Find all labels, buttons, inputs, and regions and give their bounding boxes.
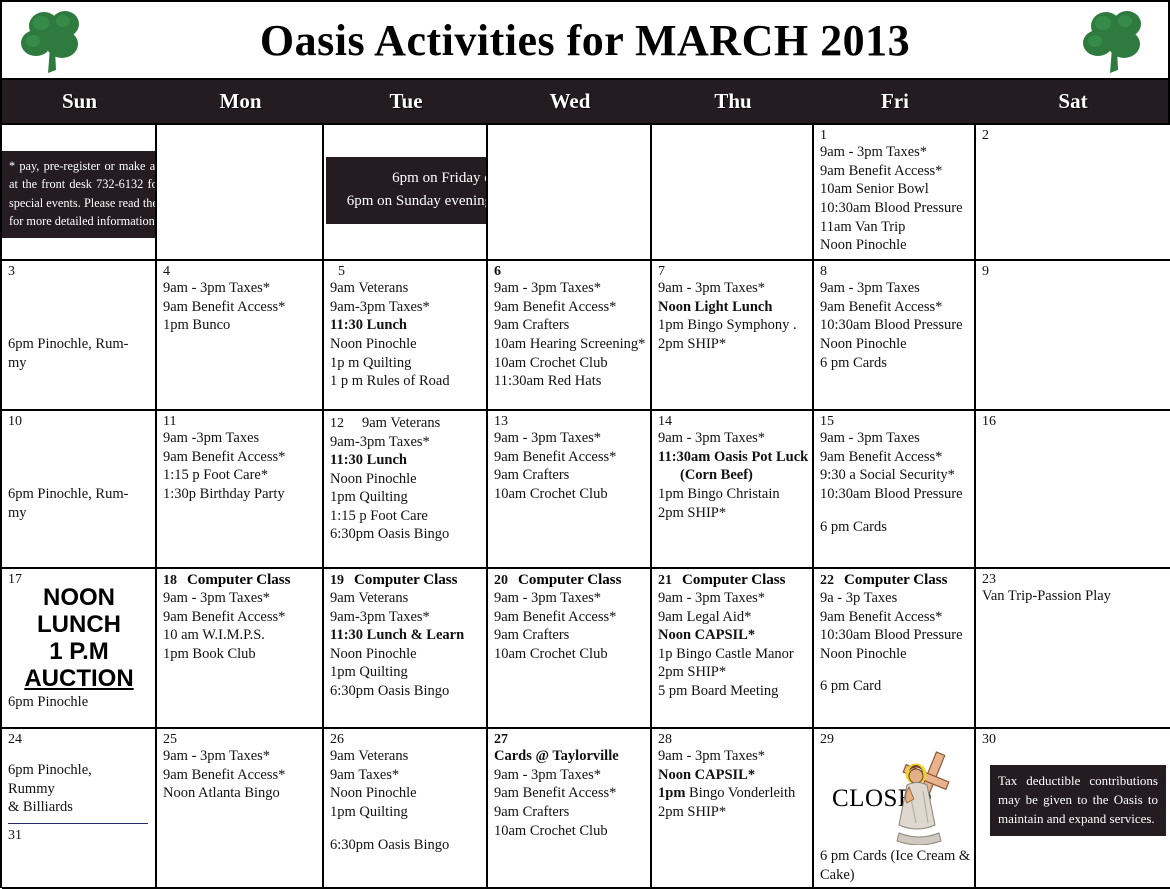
day-cell-28[interactable]: 289am - 3pm Taxes*Noon CAPSIL*1pm Bingo … <box>652 729 814 889</box>
event-line: 1pm Bingo Christain <box>658 485 807 504</box>
event-spacer <box>8 471 150 485</box>
event-line: 11:30 Lunch <box>330 451 481 470</box>
event-line: (Corn Beef) <box>658 466 807 485</box>
event-spacer <box>8 747 150 761</box>
event-line: 1 p m Rules of Road <box>330 372 481 391</box>
event-spacer <box>8 443 150 457</box>
event-line: Noon Light Lunch <box>658 298 807 317</box>
day-cell-20[interactable]: 20Computer Class 9am - 3pm Taxes*9am Ben… <box>488 569 652 729</box>
event-line: 9am -3pm Taxes <box>163 429 317 448</box>
event-line: 2pm SHIP* <box>658 663 807 682</box>
day-number: 17 <box>8 572 22 587</box>
event-line: 10:30am Blood Pressure <box>820 316 969 335</box>
event-line: 9am Crafters <box>494 466 645 485</box>
event-line: Noon Pinochle <box>820 236 969 255</box>
day-number: 18 <box>163 573 177 588</box>
day-number: 4 <box>163 264 170 279</box>
event-spacer <box>8 293 150 307</box>
event-line: Noon Atlanta Bingo <box>163 784 317 803</box>
event-line: 9am Benefit Access* <box>494 784 645 803</box>
day-cell-10[interactable]: 106pm Pinochle, Rum-my <box>2 411 157 569</box>
event-line: 9am - 3pm Taxes* <box>494 589 645 608</box>
event-line: my <box>8 354 150 373</box>
event-line: 1pm Bingo Vonderleith <box>658 784 807 803</box>
event-line: 1p Bingo Castle Manor <box>658 645 807 664</box>
day-cell-19[interactable]: 19Computer Class9am Veterans9am-3pm Taxe… <box>324 569 488 729</box>
event-spacer <box>8 279 150 293</box>
event-line: 1:15 p Foot Care* <box>163 466 317 485</box>
day-number: 3 <box>8 264 15 279</box>
day-cell-empty[interactable] <box>488 125 652 261</box>
day-number: 23 <box>982 572 996 587</box>
event-line: 9am Crafters <box>494 803 645 822</box>
event-line: 10am Crochet Club <box>494 354 645 373</box>
event-line: 10:30am Blood Pressure <box>820 626 969 645</box>
event-line: 9am Veterans <box>330 747 481 766</box>
event-line: 6pm Pinochle, Rum- <box>8 335 150 354</box>
event-line: 1:15 p Foot Care <box>330 507 481 526</box>
event-line: 9am - 3pm Taxes <box>820 429 969 448</box>
weekday-header-sun: Sun <box>2 80 157 123</box>
event-line: 6pm Pinochle <box>8 693 150 712</box>
event-line: Noon Pinochle <box>820 645 969 664</box>
auction-headline-line: 1 P.M <box>8 639 150 666</box>
day-cell-3[interactable]: 36pm Pinochle, Rum-my <box>2 261 157 411</box>
event-spacer <box>8 321 150 335</box>
event-line: 2pm SHIP* <box>658 803 807 822</box>
auction-headline: NOONLUNCH1 P.MAUCTION <box>8 585 150 693</box>
day-number: 19 <box>330 573 344 588</box>
event-line: 9am Benefit Access* <box>494 608 645 627</box>
event-line: 11:30am Red Hats <box>494 372 645 391</box>
event-line: 9am - 3pm Taxes* <box>163 747 317 766</box>
shamrock-icon <box>16 6 92 76</box>
event-spacer <box>820 504 969 518</box>
day-cell-29[interactable]: 29CLOSED6 pm Cards (Ice Cream &Cake) <box>814 729 976 889</box>
day-headline: Computer Class <box>354 572 457 589</box>
day-cell-22[interactable]: 22Computer Class9a - 3p Taxes9am Benefit… <box>814 569 976 729</box>
event-line: my <box>8 504 150 523</box>
day-cell-21[interactable]: 21Computer Class9am - 3pm Taxes*9am Lega… <box>652 569 814 729</box>
tax-note-box: Tax deductible contributions may be give… <box>990 765 1166 836</box>
day-number: 12 <box>330 416 344 431</box>
auction-headline-line: NOON <box>8 585 150 612</box>
event-line: Noon Pinochle <box>330 645 481 664</box>
day-cell-11[interactable]: 119am -3pm Taxes9am Benefit Access*1:15 … <box>157 411 324 569</box>
event-line: 9am Benefit Access* <box>494 298 645 317</box>
event-line: 9am Crafters <box>494 316 645 335</box>
event-line: & Billiards <box>8 798 150 817</box>
event-line: Noon Pinochle <box>330 784 481 803</box>
day-number: 29 <box>820 732 834 747</box>
event-line: 9am-3pm Taxes* <box>330 608 481 627</box>
event-line: 9am - 3pm Taxes* <box>658 589 807 608</box>
event-line: 9am Benefit Access* <box>163 448 317 467</box>
day-headline: Computer Class <box>187 572 290 589</box>
event-line: 9am Benefit Access* <box>820 162 969 181</box>
event-line: 9am Benefit Access* <box>494 448 645 467</box>
event-line: 6:30pm Oasis Bingo <box>330 525 481 544</box>
day-headline: Computer Class <box>518 572 621 589</box>
asterisk-note-box: * pay, pre-register or make an appointme… <box>2 151 157 238</box>
day-number: 8 <box>820 264 827 279</box>
day-cell-27[interactable]: 27Cards @ Taylorville9am - 3pm Taxes*9am… <box>488 729 652 889</box>
event-line: Noon CAPSIL* <box>658 626 807 645</box>
event-line: 9am - 3pm Taxes* <box>658 429 807 448</box>
event-line: 9am - 3pm Taxes* <box>163 279 317 298</box>
event-line: 10am Crochet Club <box>494 645 645 664</box>
event-line: Noon Pinochle <box>330 470 481 489</box>
day-cell-empty[interactable] <box>652 125 814 261</box>
event-line: 9am - 3pm Taxes* <box>494 429 645 448</box>
event-line: 10 am W.I.M.P.S. <box>163 626 317 645</box>
event-line: 9am Benefit Access* <box>820 608 969 627</box>
event-line: 1pm Bunco <box>163 316 317 335</box>
day-cell-empty[interactable]: * pay, pre-register or make an appointme… <box>2 125 157 261</box>
event-line: 1pm Bingo Symphony . <box>658 316 807 335</box>
event-line: 2pm SHIP* <box>658 335 807 354</box>
day-number: 6 <box>494 264 501 279</box>
event-line: 11:30 Lunch & Learn <box>330 626 481 645</box>
event-line: 10am Crochet Club <box>494 485 645 504</box>
day-cell-9[interactable]: 9 <box>976 261 1170 411</box>
event-line: 9am - 3pm Taxes* <box>658 279 807 298</box>
day-cell-24[interactable]: 246pm Pinochle,Rummy& Billiards31 <box>2 729 157 889</box>
day-number: 16 <box>982 414 996 429</box>
event-line: 1pm Quilting <box>330 488 481 507</box>
day-number: 25 <box>163 732 177 747</box>
weekday-header-fri: Fri <box>814 80 976 123</box>
event-line: 10:30am Blood Pressure <box>820 485 969 504</box>
event-line: Noon Pinochle <box>820 335 969 354</box>
page-title: Oasis Activities for MARCH 2013 <box>260 15 910 66</box>
weekday-header-mon: Mon <box>157 80 324 123</box>
event-line: 9am Crafters <box>494 626 645 645</box>
event-line: 1pm Book Club <box>163 645 317 664</box>
event-line: 10:30am Blood Pressure <box>820 199 969 218</box>
day-number: 20 <box>494 573 508 588</box>
event-line: 6 pm Cards (Ice Cream & <box>820 847 969 866</box>
event-line: 9am - 3pm Taxes <box>820 279 969 298</box>
event-line: 9am Benefit Access* <box>820 448 969 467</box>
event-line: 9am-3pm Taxes* <box>330 433 481 452</box>
day-number: 24 <box>8 732 22 747</box>
event-line: 1pm Quilting <box>330 663 481 682</box>
day-cell-5[interactable]: 59am Veterans9am-3pm Taxes*11:30 LunchNo… <box>324 261 488 411</box>
day-number: 7 <box>658 264 665 279</box>
day-number: 9 <box>982 264 989 279</box>
day-cell-12[interactable]: 129am Veterans9am-3pm Taxes*11:30 LunchN… <box>324 411 488 569</box>
event-line: 9am - 3pm Taxes* <box>494 279 645 298</box>
day-headline: 9am Veterans <box>354 414 440 433</box>
day-number: 10 <box>8 414 22 429</box>
day-cell-25[interactable]: 259am - 3pm Taxes*9am Benefit Access*Noo… <box>157 729 324 889</box>
event-line: Van Trip-Passion Play <box>982 587 1165 606</box>
event-line: 10am Senior Bowl <box>820 180 969 199</box>
event-spacer <box>8 429 150 443</box>
event-line: 9am Benefit Access* <box>163 608 317 627</box>
day-number: 26 <box>330 732 344 747</box>
event-line: 9am - 3pm Taxes* <box>163 589 317 608</box>
day-number-31: 31 <box>8 828 150 843</box>
day-cell-26[interactable]: 269am Veterans9am Taxes*Noon Pinochle1pm… <box>324 729 488 889</box>
event-line: 1pm Quilting <box>330 803 481 822</box>
day-number: 27 <box>494 732 508 747</box>
event-line: 6 pm Cards <box>820 518 969 537</box>
weekday-header-row: SunMonTueWedThuFriSat <box>2 80 1168 123</box>
shamrock-icon <box>1078 6 1154 76</box>
day-cell-18[interactable]: 18Computer Class9am - 3pm Taxes*9am Bene… <box>157 569 324 729</box>
event-line: 11:30 Lunch <box>330 316 481 335</box>
event-line: Noon CAPSIL* <box>658 766 807 785</box>
day-number: 15 <box>820 414 834 429</box>
event-line: 9am Veterans <box>330 589 481 608</box>
weekday-header-tue: Tue <box>324 80 488 123</box>
event-line: 9am Veterans <box>330 279 481 298</box>
jesus-carrying-cross-icon <box>883 749 959 845</box>
evening-note-line-2: 6pm on Sunday evening: Pinochle, Rummy &… <box>332 190 488 213</box>
evening-note-line-1: 6pm on Friday evening: Pinochle, 5 in 1 <box>332 167 488 190</box>
event-line: Rummy <box>8 780 150 799</box>
event-spacer <box>8 457 150 471</box>
event-line: 9am Legal Aid* <box>658 608 807 627</box>
day-cell-empty[interactable]: 6pm on Friday evening: Pinochle, 5 in 16… <box>324 125 488 261</box>
day-cell-16[interactable]: 16 <box>976 411 1170 569</box>
event-spacer <box>8 307 150 321</box>
auction-headline-line: LUNCH <box>8 612 150 639</box>
day-cell-7[interactable]: 79am - 3pm Taxes*Noon Light Lunch1pm Bin… <box>652 261 814 411</box>
event-time-bold: 1pm <box>658 785 685 801</box>
day-cell-1[interactable]: 19am - 3pm Taxes*9am Benefit Access*10am… <box>814 125 976 261</box>
event-spacer <box>330 822 481 836</box>
event-line: 6 pm Cards <box>820 354 969 373</box>
day-number: 1 <box>820 128 827 143</box>
day-number: 11 <box>163 414 176 429</box>
weekday-header-sat: Sat <box>976 80 1170 123</box>
calendar-banner: Oasis Activities for MARCH 2013 <box>2 2 1168 80</box>
event-line: 2pm SHIP* <box>658 504 807 523</box>
event-line: 9am Taxes* <box>330 766 481 785</box>
day-cell-4[interactable]: 49am - 3pm Taxes*9am Benefit Access*1pm … <box>157 261 324 411</box>
event-line: 6pm Pinochle, <box>8 761 150 780</box>
event-line: Noon Pinochle <box>330 335 481 354</box>
evening-games-note-box: 6pm on Friday evening: Pinochle, 5 in 16… <box>326 157 488 224</box>
day-number: 5 <box>330 264 345 279</box>
event-line: 1p m Quilting <box>330 354 481 373</box>
day-cell-30[interactable]: 30Tax deductible contributions may be gi… <box>976 729 1170 889</box>
event-line: Cards @ Taylorville <box>494 747 645 766</box>
day-cell-8[interactable]: 89am - 3pm Taxes9am Benefit Access*10:30… <box>814 261 976 411</box>
event-line: 1:30p Birthday Party <box>163 485 317 504</box>
day-number: 14 <box>658 414 672 429</box>
event-line: 9am - 3pm Taxes* <box>658 747 807 766</box>
closed-notice: CLOSED <box>820 747 969 847</box>
event-line: 9am Benefit Access* <box>163 766 317 785</box>
day-cell-17[interactable]: 17NOONLUNCH1 P.MAUCTION6pm Pinochle <box>2 569 157 729</box>
day-cell-2[interactable]: 2 <box>976 125 1170 261</box>
calendar-grid: * pay, pre-register or make an appointme… <box>2 123 1168 889</box>
day-number: 22 <box>820 573 834 588</box>
day-headline: Computer Class <box>682 572 785 589</box>
event-line: Cake) <box>820 866 969 885</box>
day-number: 2 <box>982 128 989 143</box>
event-line: 6 pm Card <box>820 677 969 696</box>
event-spacer <box>820 663 969 677</box>
event-line: 6pm Pinochle, Rum- <box>8 485 150 504</box>
event-line: 6:30pm Oasis Bingo <box>330 682 481 701</box>
event-line: 6:30pm Oasis Bingo <box>330 836 481 855</box>
event-line: 11am Van Trip <box>820 218 969 237</box>
event-line: 10am Crochet Club <box>494 822 645 841</box>
event-line: 9am Benefit Access* <box>820 298 969 317</box>
event-line: 11:30am Oasis Pot Luck <box>658 448 807 467</box>
calendar-page: Oasis Activities for MARCH 2013 <box>0 0 1170 888</box>
day-number: 28 <box>658 732 672 747</box>
day-cell-14[interactable]: 149am - 3pm Taxes*11:30am Oasis Pot Luck… <box>652 411 814 569</box>
day-cell-6[interactable]: 69am - 3pm Taxes*9am Benefit Access*9am … <box>488 261 652 411</box>
weekday-header-wed: Wed <box>488 80 652 123</box>
auction-headline-line: AUCTION <box>8 666 150 693</box>
weekday-header-thu: Thu <box>652 80 814 123</box>
event-line: 9am Benefit Access* <box>163 298 317 317</box>
event-line: 9:30 a Social Security* <box>820 466 969 485</box>
cell-divider <box>8 823 148 824</box>
event-line: 9am - 3pm Taxes* <box>494 766 645 785</box>
day-number: 21 <box>658 573 672 588</box>
event-line: 10am Hearing Screening* <box>494 335 645 354</box>
day-cell-23[interactable]: 23Van Trip-Passion Play <box>976 569 1170 729</box>
event-line: 9am - 3pm Taxes* <box>820 143 969 162</box>
day-headline: Computer Class <box>844 572 947 589</box>
day-cell-13[interactable]: 139am - 3pm Taxes*9am Benefit Access*9am… <box>488 411 652 569</box>
day-number: 30 <box>982 732 996 747</box>
event-line: 9a - 3p Taxes <box>820 589 969 608</box>
day-cell-empty[interactable] <box>157 125 324 261</box>
day-cell-15[interactable]: 159am - 3pm Taxes9am Benefit Access*9:30… <box>814 411 976 569</box>
day-number: 13 <box>494 414 508 429</box>
event-line: 9am-3pm Taxes* <box>330 298 481 317</box>
event-line: 5 pm Board Meeting <box>658 682 807 701</box>
